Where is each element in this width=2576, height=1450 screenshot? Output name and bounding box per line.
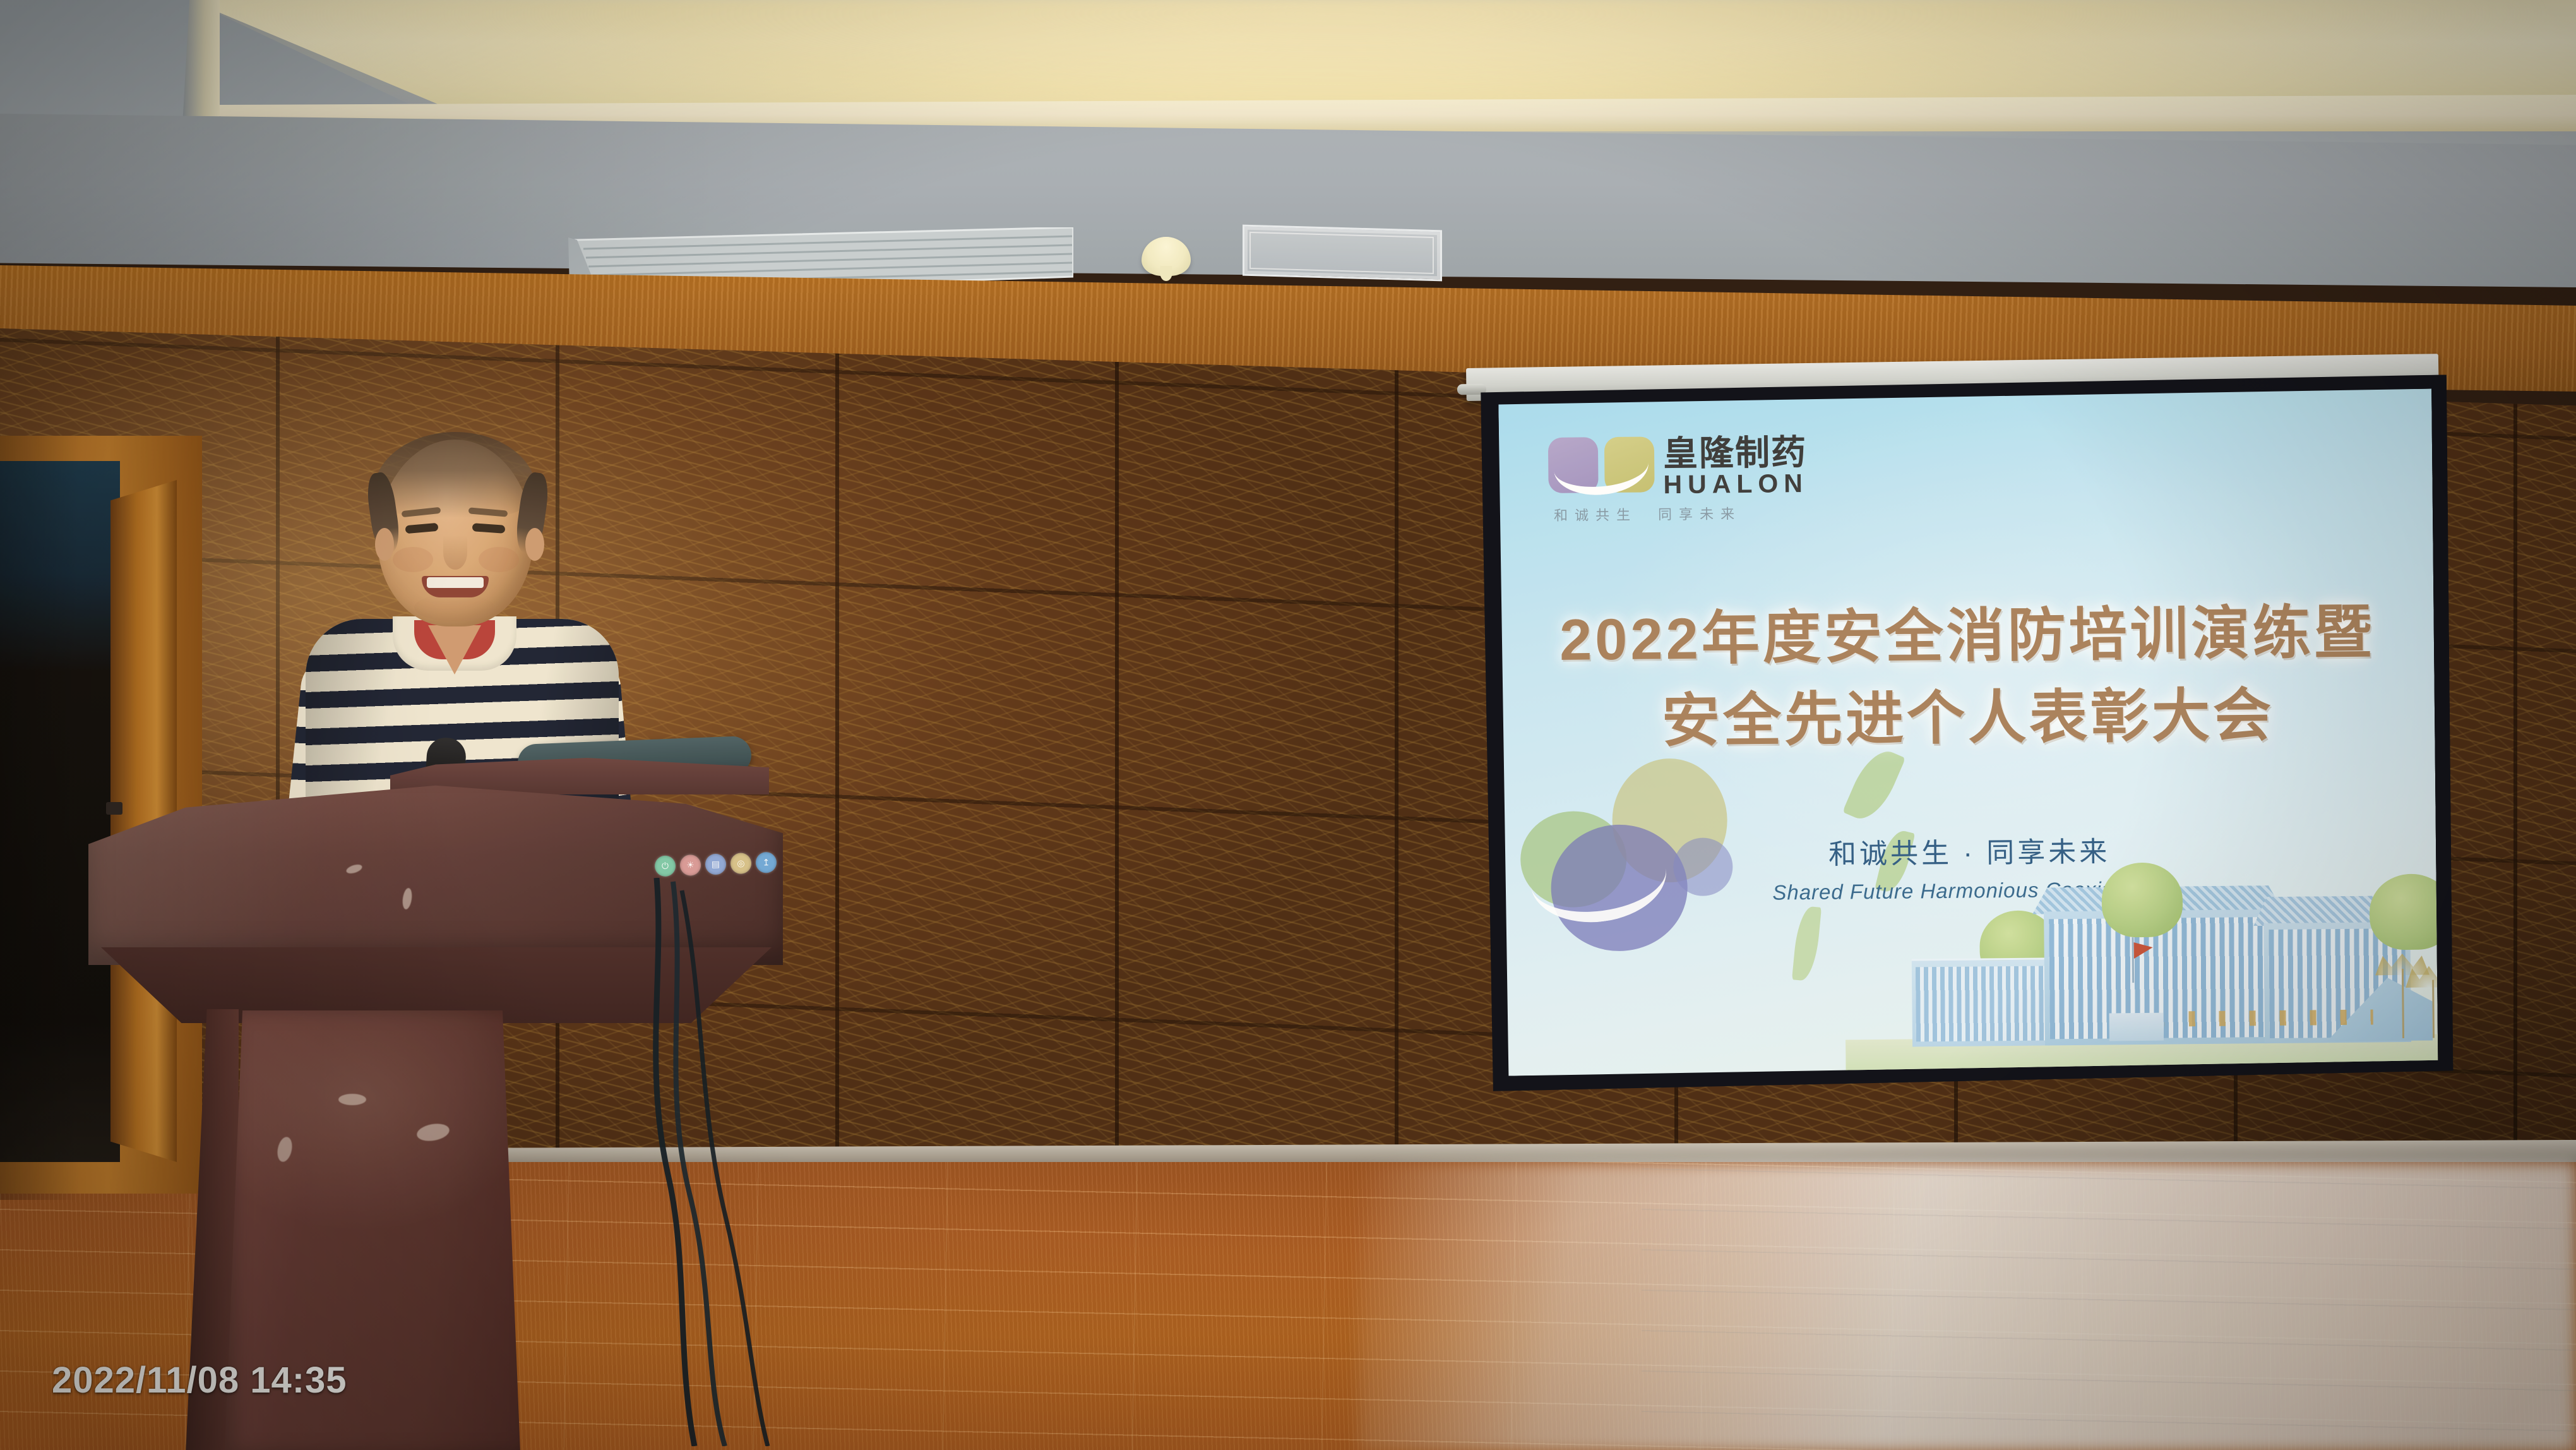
power-button[interactable]: ⏻ xyxy=(654,855,676,877)
audio-cables xyxy=(619,878,821,1446)
podium-column-scuff xyxy=(338,1094,366,1105)
slide-title-line-2: 安全先进个人表彰大会 xyxy=(1501,673,2435,764)
lamp-button[interactable]: ☀ xyxy=(679,854,701,875)
screen-button[interactable]: ▤ xyxy=(705,853,726,875)
speaker-chin xyxy=(414,594,495,621)
projected-slide: 皇隆制药 HUALON 和诚共生 同享未来 2022年度安全消防培训演练暨 安全… xyxy=(1498,389,2438,1076)
palm-frond-icon xyxy=(2375,954,2430,976)
mic-button[interactable]: ↥ xyxy=(755,851,777,873)
floor-reflection-plank-lines xyxy=(1642,1162,2576,1450)
speaker-cheek-left xyxy=(393,547,433,572)
building-left xyxy=(1912,957,2050,1046)
slide-title: 2022年度安全消防培训演练暨 安全先进个人表彰大会 xyxy=(1500,591,2435,764)
logo-sub-motto: 和诚共生 同享未来 xyxy=(1554,503,1741,525)
ceiling-access-panel xyxy=(1243,225,1442,282)
lectern-podium[interactable]: ⏻ ☀ ▤ ◎ ↥ xyxy=(189,733,581,1450)
palm-trunk-icon xyxy=(2432,980,2435,1038)
speaker-hair xyxy=(374,432,537,518)
row-of-banner-flags xyxy=(2165,1009,2373,1026)
photo-timestamp: 2022/11/08 14:35 xyxy=(52,1359,347,1401)
slide-building-illustration xyxy=(1844,856,2438,1074)
speaker-cheek-right xyxy=(479,547,519,572)
logo-name-cn: 皇隆制药 xyxy=(1663,434,1808,472)
podium-control-panel[interactable]: ⏻ ☀ ▤ ◎ ↥ xyxy=(654,849,778,879)
slide-title-line-1: 2022年度安全消防培训演练暨 xyxy=(1500,591,2434,682)
projection-screen[interactable]: 皇隆制药 HUALON 和诚共生 同享未来 2022年度安全消防培训演练暨 安全… xyxy=(1481,374,2454,1091)
volume-button[interactable]: ◎ xyxy=(730,853,751,874)
speaker-nose xyxy=(443,536,467,570)
building-entrance-canopy xyxy=(2109,1013,2164,1041)
tree-icon xyxy=(2370,873,2438,950)
hualon-logo-mark-icon xyxy=(1548,436,1655,493)
slide-brand-logo: 皇隆制药 HUALON 和诚共生 同享未来 xyxy=(1548,433,1846,537)
logo-name-en: HUALON xyxy=(1663,469,1808,498)
speaker-ear-left xyxy=(375,528,394,561)
photo-canvas: 皇隆制药 HUALON 和诚共生 同享未来 2022年度安全消防培训演练暨 安全… xyxy=(0,0,2576,1450)
tree-icon xyxy=(2101,862,2183,937)
speaker-ear-right xyxy=(525,528,544,561)
leaf-decoration-icon xyxy=(1792,906,1822,982)
